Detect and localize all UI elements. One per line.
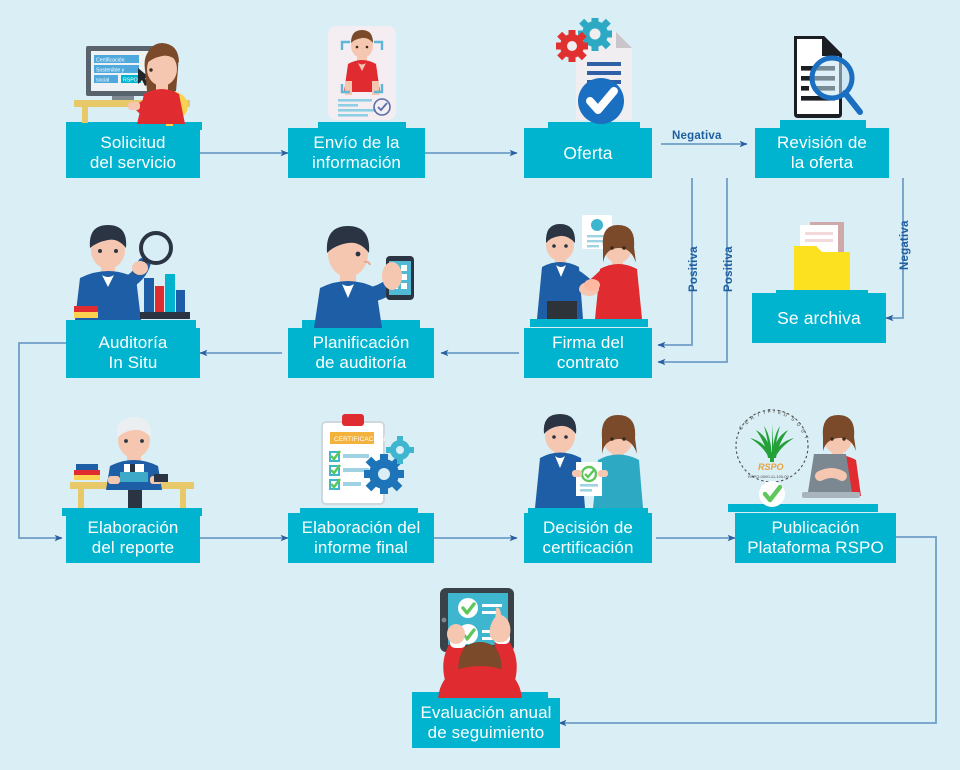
rspo-logo-laptop-icon: CERTIFIED SUSTAINABLE PALM OIL C E R T I…: [728, 406, 878, 512]
man-at-desk-writing-icon: [62, 412, 202, 516]
two-people-document-icon: [528, 410, 648, 516]
svg-text:RSPO-0000-11-100-00: RSPO-0000-11-100-00: [748, 474, 790, 479]
edge-label-negativa-top: Negativa: [672, 130, 722, 142]
svg-text:S: S: [789, 416, 796, 423]
id-card-icon: [318, 24, 406, 130]
clipboard-gears-checklist-icon: CERTIFICACIÓN: [300, 412, 418, 516]
svg-text:CERTIFICACIÓN: CERTIFICACIÓN: [334, 434, 385, 443]
svg-text:C: C: [738, 424, 745, 431]
node-revision[interactable]: Revisión de la oferta: [755, 128, 889, 178]
svg-text:U: U: [795, 421, 802, 428]
svg-text:R: R: [749, 415, 755, 422]
edge-label-positiva-inner: Positiva: [688, 246, 700, 292]
svg-text:CERTIFIED SUSTAINABLE PALM OIL: CERTIFIED SUSTAINABLE PALM OIL: [728, 406, 821, 408]
svg-text:F: F: [768, 409, 771, 415]
svg-text:Certificación: Certificación: [96, 58, 125, 64]
svg-text:S: S: [799, 428, 806, 435]
document-magnifier-icon: [780, 28, 866, 128]
svg-text:D: D: [782, 412, 788, 419]
auditor-magnifier-books-icon: [66, 218, 196, 328]
edge-label-positiva-outer: Positiva: [723, 246, 735, 292]
node-decision[interactable]: Decisión de certificación: [524, 513, 652, 563]
node-publicacion[interactable]: Publicación Plataforma RSPO: [735, 513, 896, 563]
document-gears-check-icon: [548, 18, 640, 130]
svg-text:social: social: [96, 78, 109, 84]
node-se-archiva[interactable]: Se archiva: [752, 293, 886, 343]
node-auditoria[interactable]: Auditoría In Situ: [66, 328, 200, 378]
man-with-phone-icon: [302, 220, 420, 328]
svg-text:RSPO: RSPO: [123, 78, 138, 84]
node-planificacion[interactable]: Planificación de auditoría: [288, 328, 434, 378]
svg-text:E: E: [777, 410, 782, 417]
node-oferta[interactable]: Oferta: [524, 128, 652, 178]
person-tablet-checklist-icon: [412, 588, 548, 700]
woman-at-computer-icon: Certificación Sostenible y social RSPO: [66, 22, 202, 130]
flowchart-canvas: Negativa Negativa Positiva Positiva Cert…: [0, 0, 960, 770]
svg-text:T: T: [802, 435, 809, 440]
node-solicitud[interactable]: Solicitud del servicio: [66, 128, 200, 178]
node-firma[interactable]: Firma del contrato: [524, 328, 652, 378]
handshake-signing-icon: [530, 215, 648, 327]
node-envio[interactable]: Envío de la información: [288, 128, 425, 178]
edge-label-negativa-right: Negativa: [899, 220, 911, 270]
node-reporte[interactable]: Elaboración del reporte: [66, 513, 200, 563]
node-evaluacion[interactable]: Evaluación anual de seguimiento: [412, 698, 560, 748]
svg-text:I: I: [773, 409, 775, 415]
node-informe[interactable]: Elaboración del informe final: [288, 513, 434, 563]
svg-text:Sostenible y: Sostenible y: [96, 68, 125, 74]
svg-text:T: T: [756, 412, 761, 419]
svg-text:RSPO: RSPO: [758, 462, 784, 472]
folder-documents-icon: [776, 222, 868, 298]
